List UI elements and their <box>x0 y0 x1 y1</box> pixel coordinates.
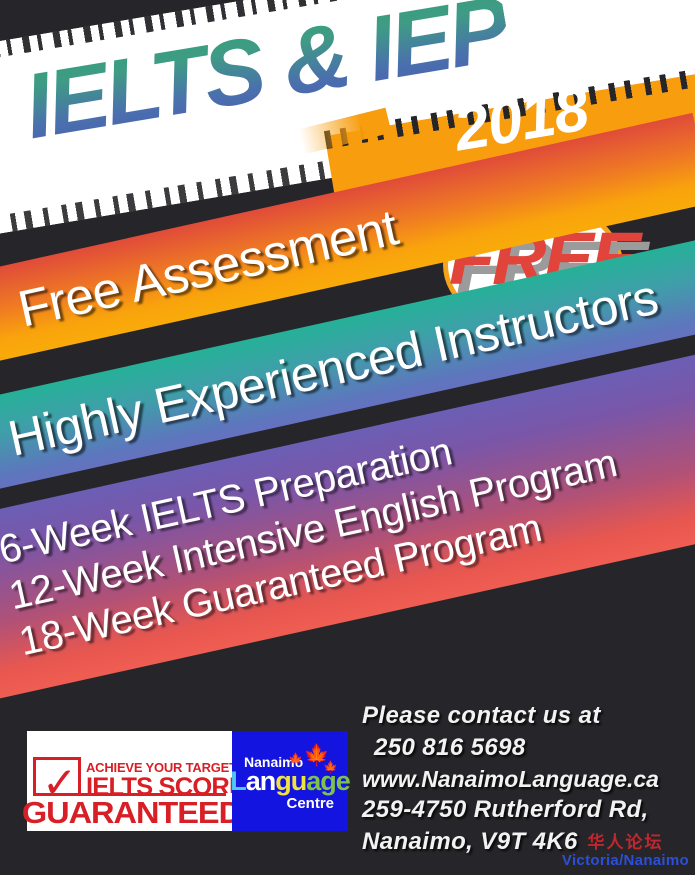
contact-intro: Please contact us at <box>362 700 692 732</box>
contact-phone[interactable]: 250 816 5698 <box>362 732 692 764</box>
poster-canvas: IELTS & IEP 2018 FREE Free Assessment Hi… <box>0 0 695 875</box>
maple-leaf-icon-white: 🍁 <box>323 761 338 773</box>
nlc-mid-part-1: L <box>230 766 246 796</box>
nlc-bottom-word: Centre <box>286 796 348 811</box>
contact-website[interactable]: www.NanaimoLanguage.ca <box>362 764 692 795</box>
nlc-mid-part-2: an <box>246 766 276 796</box>
logo-row: ✓ ACHIEVE YOUR TARGET IELTS SCORE GUARAN… <box>27 731 348 831</box>
ielts-logo-guaranteed-bar: GUARANTEED <box>27 793 232 831</box>
watermark: 华人论坛 Victoria/Nanaimo <box>562 835 689 869</box>
ielts-logo-line3: GUARANTEED <box>22 797 237 831</box>
contact-address-line1: 259-4750 Rutherford Rd, <box>362 794 692 826</box>
watermark-chinese: 华人论坛 <box>562 835 689 853</box>
watermark-english: Victoria/Nanaimo <box>562 853 689 869</box>
maple-leaf-icon-small: 🍁 <box>288 753 303 765</box>
nlc-mid-part-3: gu <box>275 766 306 796</box>
ielts-guaranteed-logo: ✓ ACHIEVE YOUR TARGET IELTS SCORE GUARAN… <box>27 731 232 831</box>
nanaimo-language-centre-logo: 🍁 🍁 🍁 Nanaimo Language Centre <box>232 731 348 831</box>
